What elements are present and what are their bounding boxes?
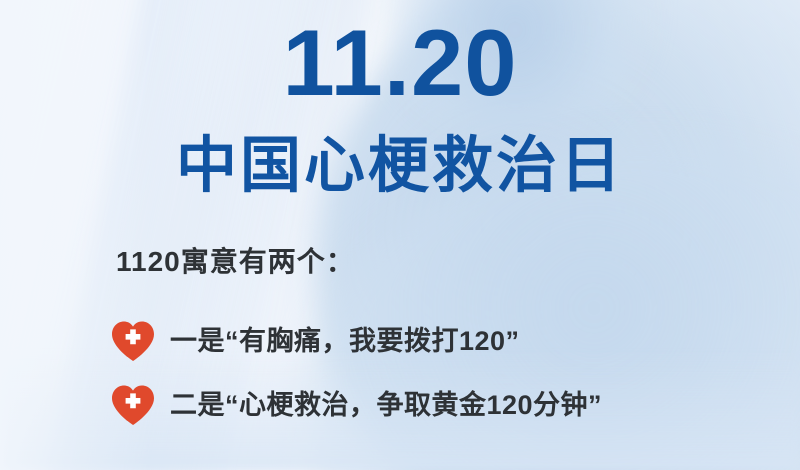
- poster-canvas: 11.20 中国心梗救治日 1120寓意有两个： 一是“有胸痛，我要拨打120”: [0, 0, 800, 470]
- poster-content: 11.20 中国心梗救治日 1120寓意有两个： 一是“有胸痛，我要拨打120”: [0, 0, 800, 470]
- lead-text: 1120寓意有两个：: [116, 248, 355, 276]
- event-title: 中国心梗救治日: [0, 133, 800, 199]
- list-item: 一是“有胸痛，我要拨打120”: [110, 318, 602, 364]
- heart-cross-icon: [110, 384, 156, 426]
- list-item-label: 二是“心梗救治，争取黄金120分钟”: [170, 392, 602, 419]
- points-list: 一是“有胸痛，我要拨打120” 二是“心梗救治，争取黄金120分钟”: [110, 318, 602, 446]
- date-title: 11.20: [0, 16, 800, 110]
- list-item: 二是“心梗救治，争取黄金120分钟”: [110, 382, 602, 428]
- heart-cross-icon: [110, 320, 156, 362]
- list-item-label: 一是“有胸痛，我要拨打120”: [170, 328, 520, 355]
